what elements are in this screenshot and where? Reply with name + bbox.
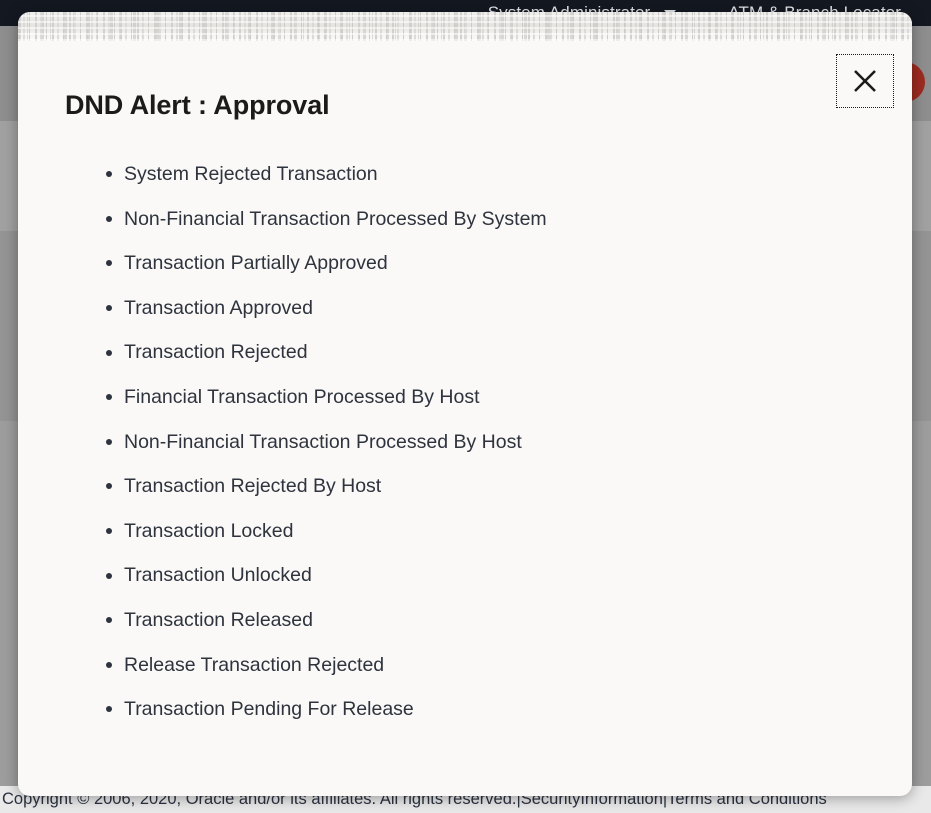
list-item-label: Transaction Unlocked: [124, 564, 312, 586]
list-item-label: Transaction Rejected By Host: [124, 475, 381, 497]
bullet-icon: [106, 617, 112, 623]
list-item-label: Transaction Locked: [124, 520, 293, 542]
list-item: Transaction Approved: [65, 286, 882, 331]
list-item: Transaction Pending For Release: [65, 687, 882, 732]
modal-overlay: DND Alert : Approval System Rejected Tra…: [0, 0, 931, 813]
bullet-icon: [106, 394, 112, 400]
bullet-icon: [106, 706, 112, 712]
list-item-label: Transaction Rejected: [124, 341, 308, 363]
list-item: Transaction Rejected: [65, 330, 882, 375]
list-item-label: System Rejected Transaction: [124, 163, 378, 185]
close-icon: [852, 68, 878, 94]
list-item-label: Transaction Partially Approved: [124, 252, 388, 274]
bullet-icon: [106, 573, 112, 579]
list-item-label: Financial Transaction Processed By Host: [124, 386, 480, 408]
list-item-label: Non-Financial Transaction Processed By H…: [124, 431, 522, 453]
list-item-label: Transaction Pending For Release: [124, 698, 414, 720]
list-item: Transaction Partially Approved: [65, 241, 882, 286]
list-item: System Rejected Transaction: [65, 152, 882, 197]
list-item: Transaction Unlocked: [65, 553, 882, 598]
list-item-label: Transaction Approved: [124, 297, 313, 319]
list-item: Financial Transaction Processed By Host: [65, 375, 882, 420]
list-item: Transaction Rejected By Host: [65, 464, 882, 509]
list-item: Release Transaction Rejected: [65, 643, 882, 688]
list-item-label: Release Transaction Rejected: [124, 654, 384, 676]
list-item: Non-Financial Transaction Processed By H…: [65, 420, 882, 465]
dnd-alert-approval-dialog: DND Alert : Approval System Rejected Tra…: [18, 12, 912, 796]
bullet-icon: [106, 662, 112, 668]
bullet-icon: [106, 305, 112, 311]
bullet-icon: [106, 171, 112, 177]
dialog-title: DND Alert : Approval: [65, 90, 330, 121]
bullet-icon: [106, 439, 112, 445]
list-item-label: Transaction Released: [124, 609, 313, 631]
list-item-label: Non-Financial Transaction Processed By S…: [124, 208, 547, 230]
list-item: Transaction Locked: [65, 509, 882, 554]
close-button[interactable]: [836, 54, 894, 108]
bullet-icon: [106, 260, 112, 266]
alert-event-list: System Rejected Transaction Non-Financia…: [65, 152, 882, 732]
list-item: Non-Financial Transaction Processed By S…: [65, 197, 882, 242]
bullet-icon: [106, 216, 112, 222]
bullet-icon: [106, 528, 112, 534]
bullet-icon: [106, 483, 112, 489]
list-item: Transaction Released: [65, 598, 882, 643]
bullet-icon: [106, 350, 112, 356]
dialog-top-texture-band: [18, 12, 912, 41]
dialog-body: System Rejected Transaction Non-Financia…: [65, 152, 882, 732]
